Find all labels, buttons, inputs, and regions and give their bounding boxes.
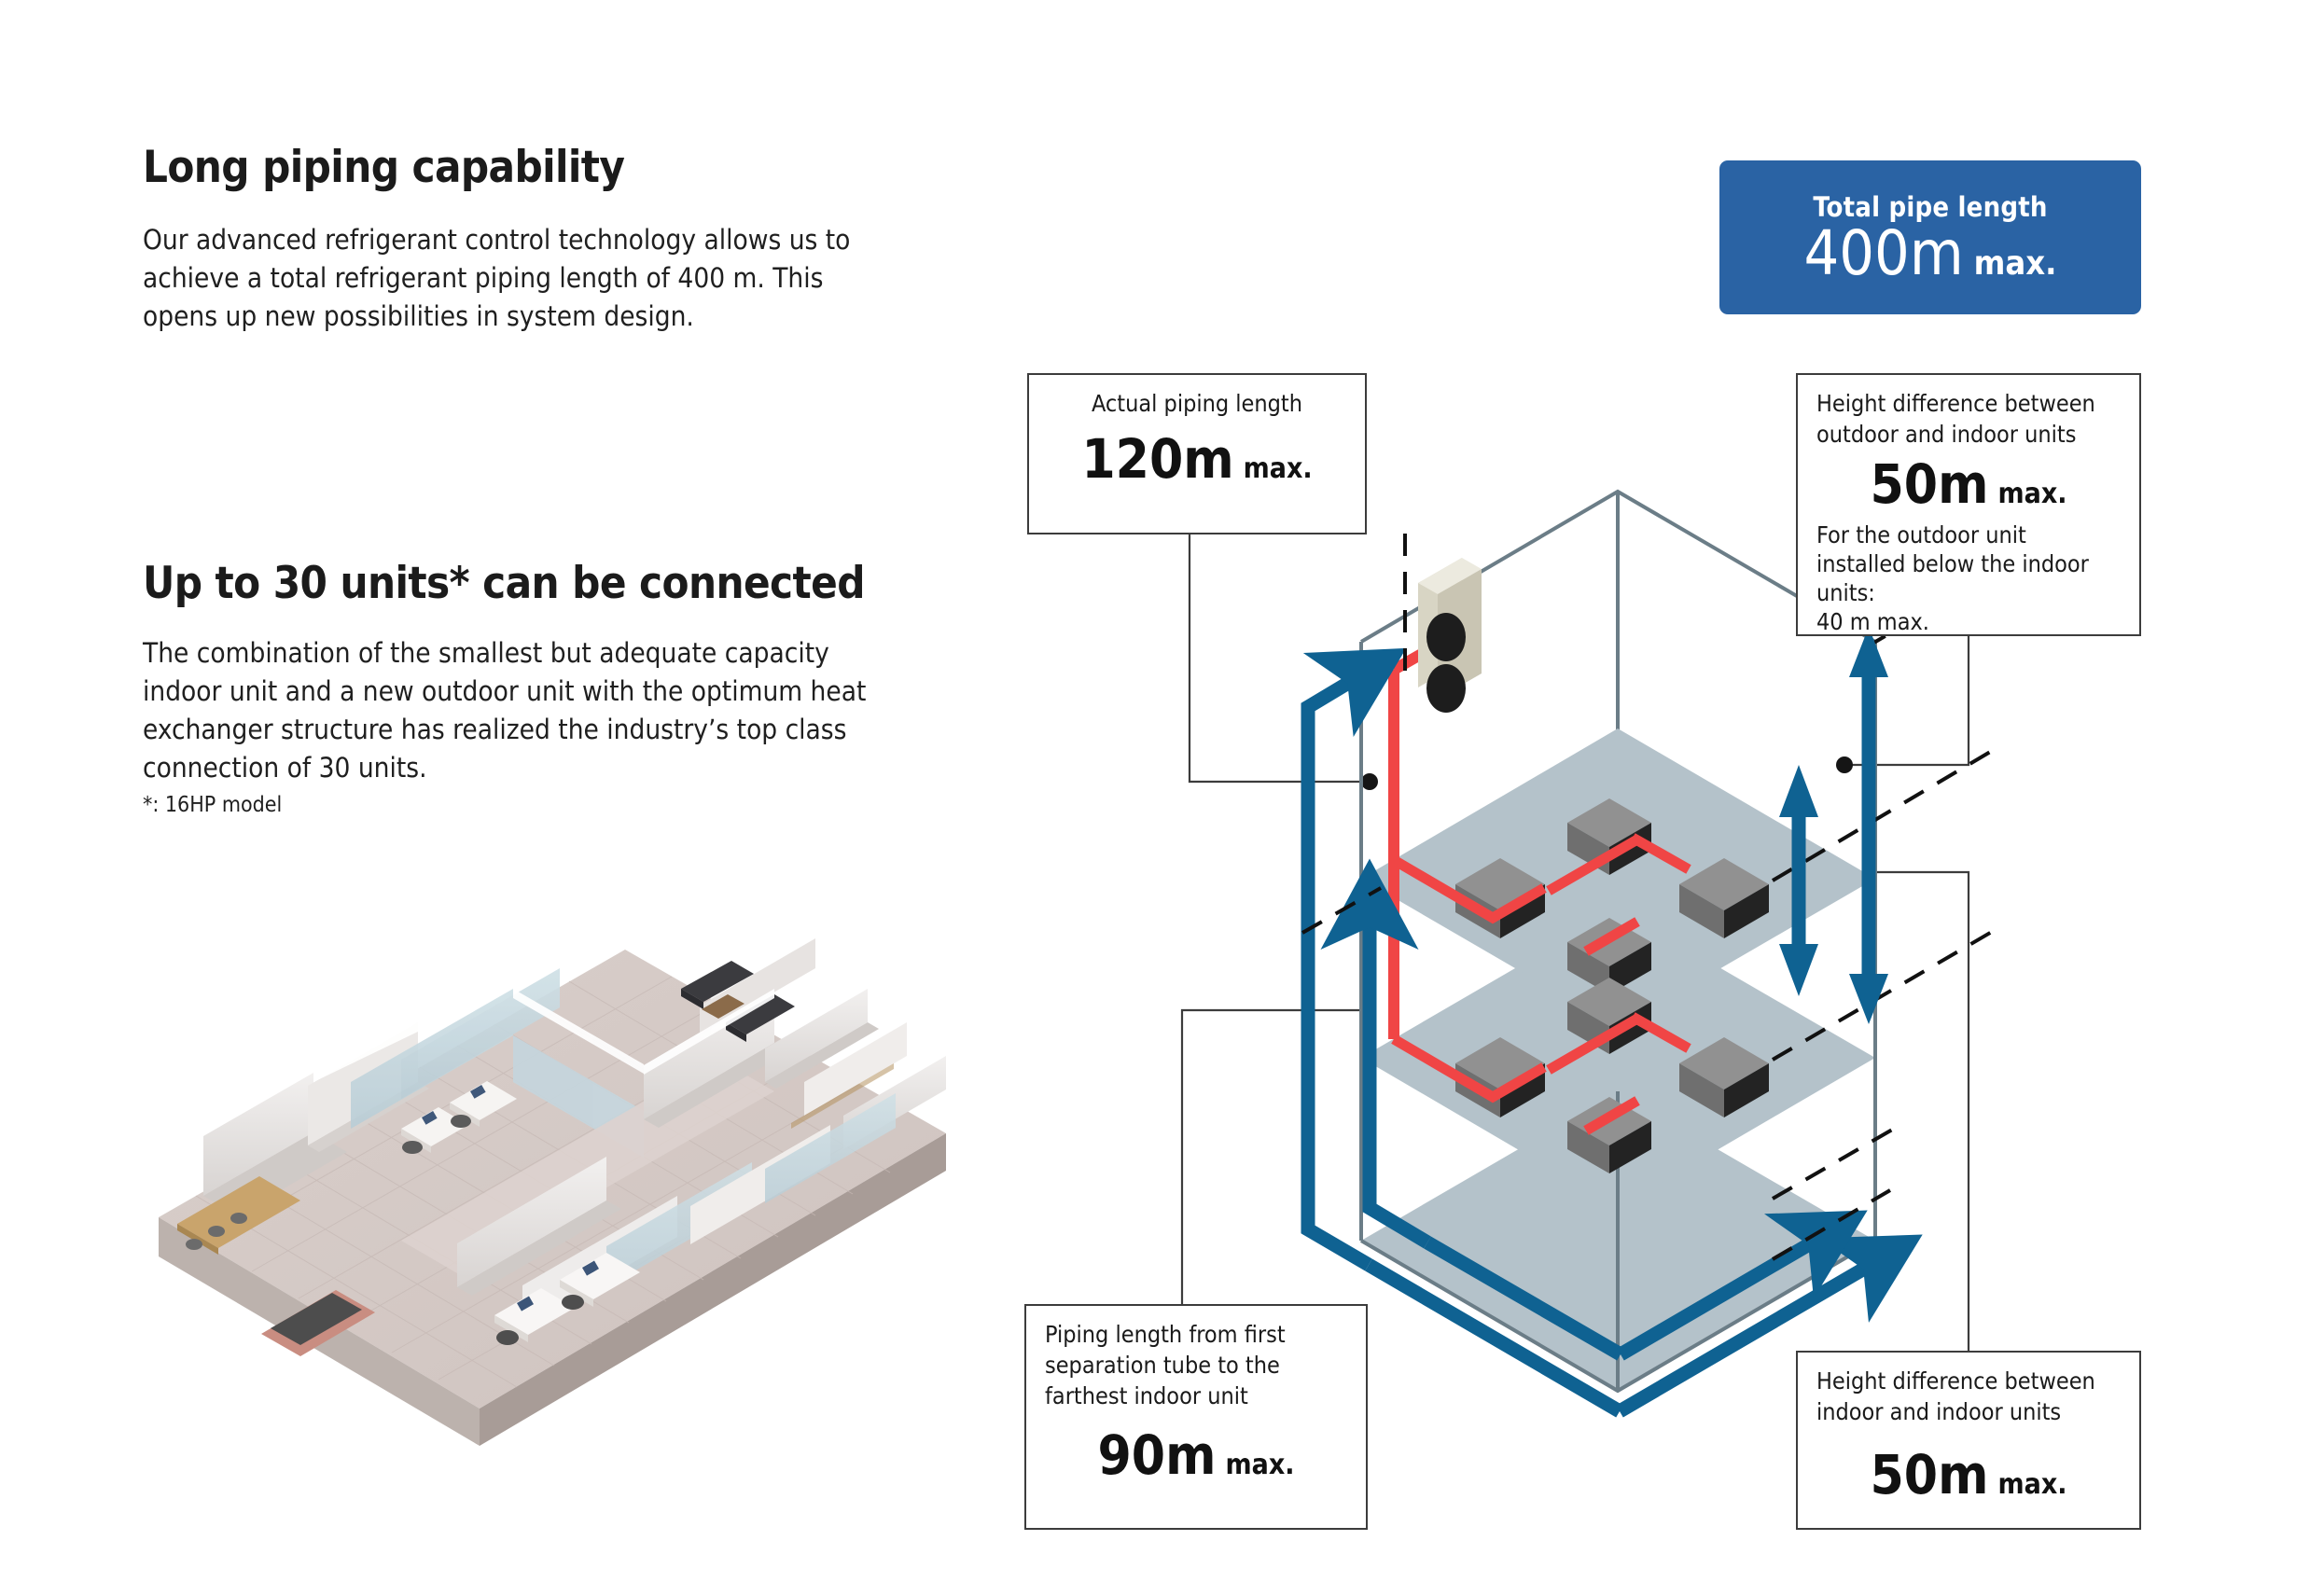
callout-value: 50m <box>1871 1448 1989 1502</box>
callout-subtext: For the outdoor unit installed below the… <box>1816 520 2121 636</box>
callout-title: Height difference between outdoor and in… <box>1816 388 2121 450</box>
page-root: Long piping capability Our advanced refr… <box>0 0 2310 1596</box>
callout-value-row: 90m max. <box>1045 1428 1347 1482</box>
outdoor-unit <box>1418 558 1482 713</box>
callout-qualifier: max. <box>1998 1468 2067 1501</box>
callout-title: Height difference between indoor and ind… <box>1816 1366 2121 1427</box>
callout-qualifier: max. <box>1226 1449 1295 1481</box>
callout-actual-piping-length: Actual piping length 120m max. <box>1027 373 1367 534</box>
callout-title: Piping length from first separation tube… <box>1045 1319 1347 1411</box>
callout-qualifier: max. <box>1244 452 1313 485</box>
callout-value: 120m <box>1081 432 1233 486</box>
callout-value-row: 120m max. <box>1048 432 1346 486</box>
dimension-arrow-outdoor-indoor <box>1849 627 1888 1024</box>
callout-height-difference-outdoor-indoor: Height difference between outdoor and in… <box>1796 373 2141 636</box>
callout-value: 50m <box>1871 457 1989 511</box>
dimension-arrows <box>1779 627 1888 1024</box>
callout-value-row: 50m max. <box>1816 457 2121 511</box>
callout-qualifier: max. <box>1998 478 2067 510</box>
callout-title: Actual piping length <box>1048 388 1346 419</box>
callout-height-difference-indoor-indoor: Height difference between indoor and ind… <box>1796 1351 2141 1530</box>
callout-first-separation-tube: Piping length from first separation tube… <box>1024 1304 1368 1530</box>
callout-value-row: 50m max. <box>1816 1448 2121 1502</box>
callout-value: 90m <box>1098 1428 1217 1482</box>
